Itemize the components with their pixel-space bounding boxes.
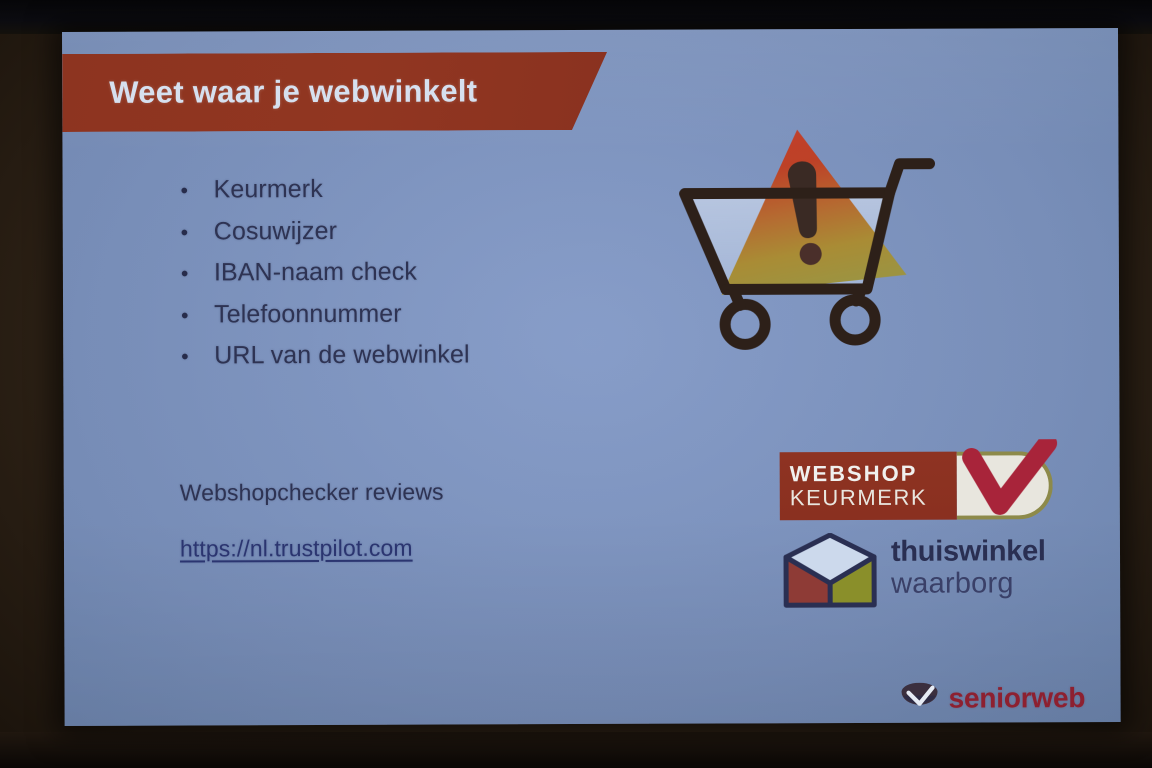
seniorweb-swoosh-icon <box>900 683 940 715</box>
list-item: • Telefoonnummer <box>181 299 470 342</box>
thuiswinkel-line-1: thuiswinkel <box>891 536 1046 568</box>
projected-slide: Weet waar je webwinkelt • Keurmerk • Cos… <box>62 28 1121 726</box>
keurmerk-text-block: WEBSHOP KEURMERK <box>780 452 957 521</box>
webshop-keurmerk-logo: WEBSHOP KEURMERK <box>780 443 1080 526</box>
bullet-list: • Keurmerk • Cosuwijzer • IBAN-naam chec… <box>181 174 470 383</box>
slide-title-banner: Weet waar je webwinkelt <box>62 52 607 132</box>
bullet-dot-icon: • <box>181 181 191 202</box>
list-item-label: Keurmerk <box>214 175 323 204</box>
thuiswinkel-line-2: waarborg <box>891 568 1046 601</box>
red-checkmark-icon <box>948 439 1076 529</box>
bullet-dot-icon: • <box>181 347 191 368</box>
thuiswinkel-waarborg-logo: thuiswinkel waarborg <box>780 530 1080 617</box>
thuiswinkel-wordmark: thuiswinkel waarborg <box>891 536 1046 600</box>
shopping-cart-warning-icon <box>667 117 948 358</box>
list-item-label: URL van de webwinkel <box>214 340 469 370</box>
bullet-dot-icon: • <box>181 222 191 243</box>
list-item-label: Cosuwijzer <box>214 216 337 245</box>
keurmerk-line-2: KEURMERK <box>790 485 957 509</box>
list-item: • Keurmerk <box>181 174 470 217</box>
webshopchecker-note: Webshopchecker reviews <box>180 479 444 507</box>
list-item-label: Telefoonnummer <box>214 299 402 329</box>
list-item: • IBAN-naam check <box>181 257 470 300</box>
bullet-dot-icon: • <box>181 264 191 285</box>
seniorweb-wordmark: seniorweb <box>949 682 1086 715</box>
keurmerk-line-1: WEBSHOP <box>790 462 957 486</box>
bullet-dot-icon: • <box>181 305 191 326</box>
page-title: Weet waar je webwinkelt <box>109 73 477 110</box>
room-floor-shadow <box>0 732 1152 768</box>
trustpilot-link[interactable]: https://nl.trustpilot.com <box>180 535 413 563</box>
list-item: • URL van de webwinkel <box>181 340 470 383</box>
open-box-icon <box>780 533 880 611</box>
list-item-label: IBAN-naam check <box>214 258 417 288</box>
list-item: • Cosuwijzer <box>181 216 470 259</box>
seniorweb-logo: seniorweb <box>899 678 1114 719</box>
slide-canvas: Weet waar je webwinkelt • Keurmerk • Cos… <box>62 28 1121 726</box>
screenshot-stage: Weet waar je webwinkelt • Keurmerk • Cos… <box>0 0 1152 768</box>
